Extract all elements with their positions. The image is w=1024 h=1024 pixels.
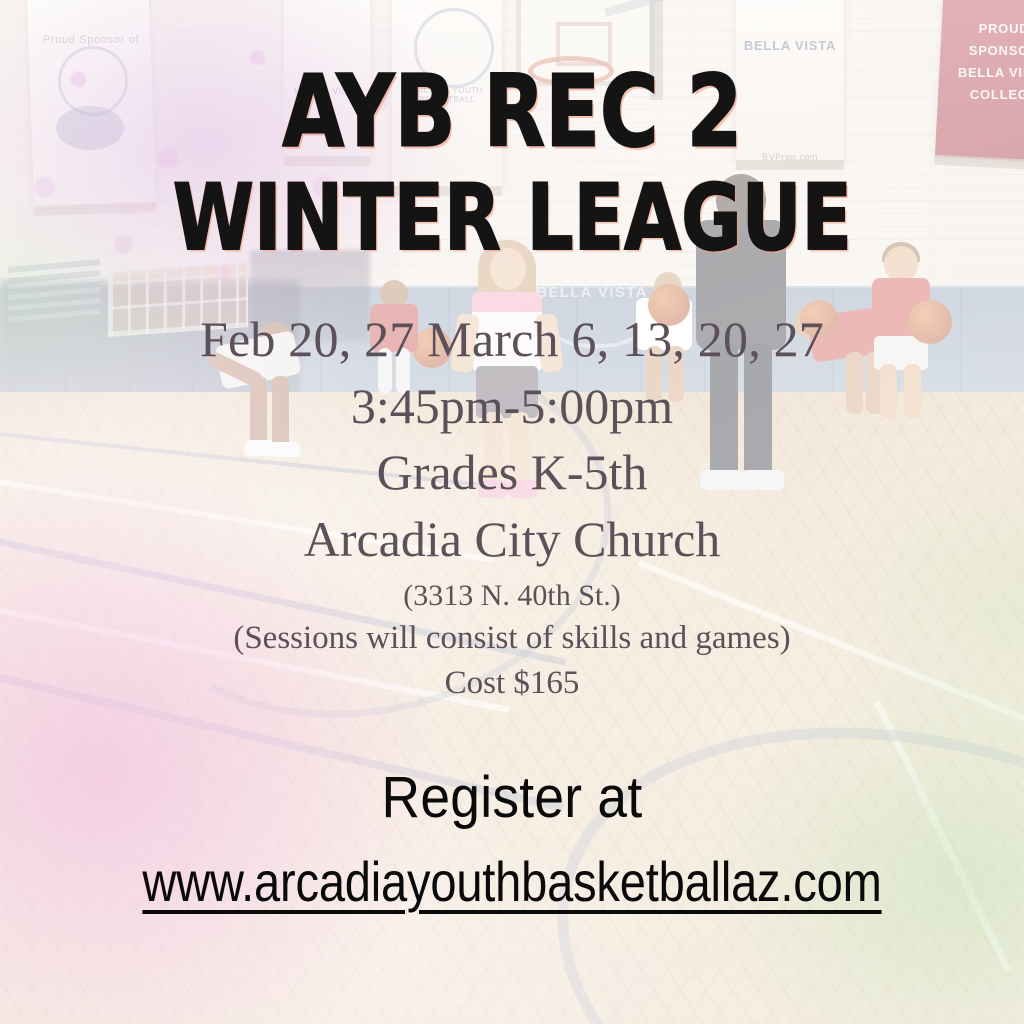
headline-line-2-text: Winter League (172, 175, 851, 262)
register-url-link[interactable]: www.arcadiayouthbasketballaz.com (82, 849, 942, 914)
detail-dates: Feb 20, 27 March 6, 13, 20, 27 (0, 310, 1024, 369)
register-block: Register at www.arcadiayouthbasketballaz… (0, 764, 1024, 914)
detail-cost: Cost $165 (0, 664, 1024, 703)
detail-address: (3313 N. 40th St.) (0, 578, 1024, 613)
detail-grades: Grades K-5th (0, 443, 1024, 502)
headline-line-1-text: AYB Rec 2 (172, 65, 851, 160)
detail-time: 3:45pm-5:00pm (0, 377, 1024, 436)
flyer-content: AYB Rec 2 Winter League Feb 20, 27 March… (0, 0, 1024, 1024)
headline-line-1: AYB Rec 2 (172, 65, 851, 160)
flyer-canvas: Proud Sponsor of MONTE VISTA ARCADIA YOU… (0, 0, 1024, 1024)
detail-note: (Sessions will consist of skills and gam… (0, 619, 1024, 658)
detail-venue: Arcadia City Church (0, 510, 1024, 569)
details-block: Feb 20, 27 March 6, 13, 20, 27 3:45pm-5:… (0, 310, 1024, 702)
headline-line-2: Winter League (172, 175, 851, 262)
register-label: Register at (41, 764, 983, 831)
headline-block: AYB Rec 2 Winter League (189, 76, 836, 252)
